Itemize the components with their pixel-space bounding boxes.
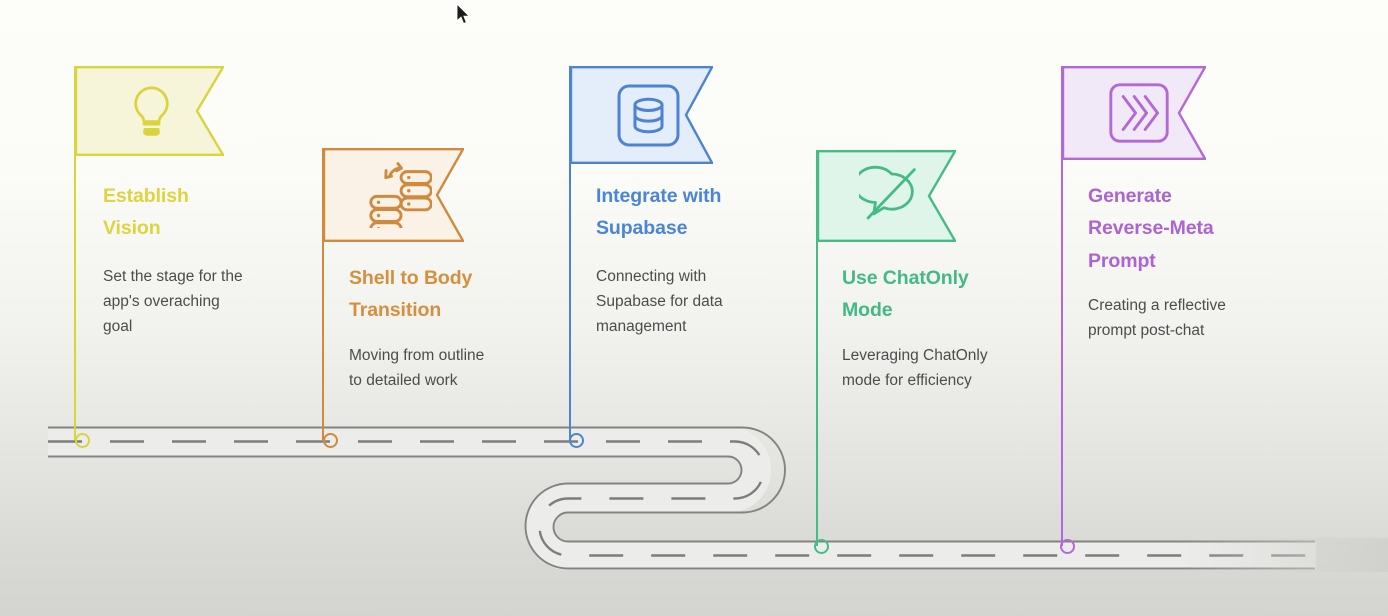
milestone-marker[interactable] bbox=[1060, 539, 1075, 554]
roadmap-diagram: Establish VisionSet the stage for the ap… bbox=[0, 0, 1388, 616]
milestone-title: Integrate with Supabase bbox=[596, 180, 796, 245]
milestone-title: Generate Reverse-Meta Prompt bbox=[1088, 180, 1293, 277]
milestone-flag[interactable] bbox=[571, 66, 713, 164]
milestone-title: Establish Vision bbox=[103, 180, 303, 245]
milestone-marker[interactable] bbox=[323, 433, 338, 448]
milestone-flag[interactable] bbox=[1063, 66, 1206, 160]
milestone-flag[interactable] bbox=[76, 66, 224, 156]
milestone-title: Use ChatOnly Mode bbox=[842, 262, 1047, 327]
road-center-dashes bbox=[48, 442, 1316, 556]
road-fade bbox=[1180, 538, 1388, 572]
milestone-flag[interactable] bbox=[324, 148, 464, 242]
milestone-description: Moving from outline to detailed work bbox=[349, 343, 549, 393]
milestone-description: Creating a reflective prompt post-chat bbox=[1088, 293, 1293, 343]
milestone-marker[interactable] bbox=[75, 433, 90, 448]
milestone-description: Connecting with Supabase for data manage… bbox=[596, 264, 796, 339]
milestone-marker[interactable] bbox=[814, 539, 829, 554]
milestone-title: Shell to Body Transition bbox=[349, 262, 549, 327]
milestone-flag[interactable] bbox=[818, 150, 956, 242]
milestone-description: Set the stage for the app's overaching g… bbox=[103, 264, 303, 339]
milestone-marker[interactable] bbox=[569, 433, 584, 448]
milestone-description: Leveraging ChatOnly mode for efficiency bbox=[842, 343, 1047, 393]
